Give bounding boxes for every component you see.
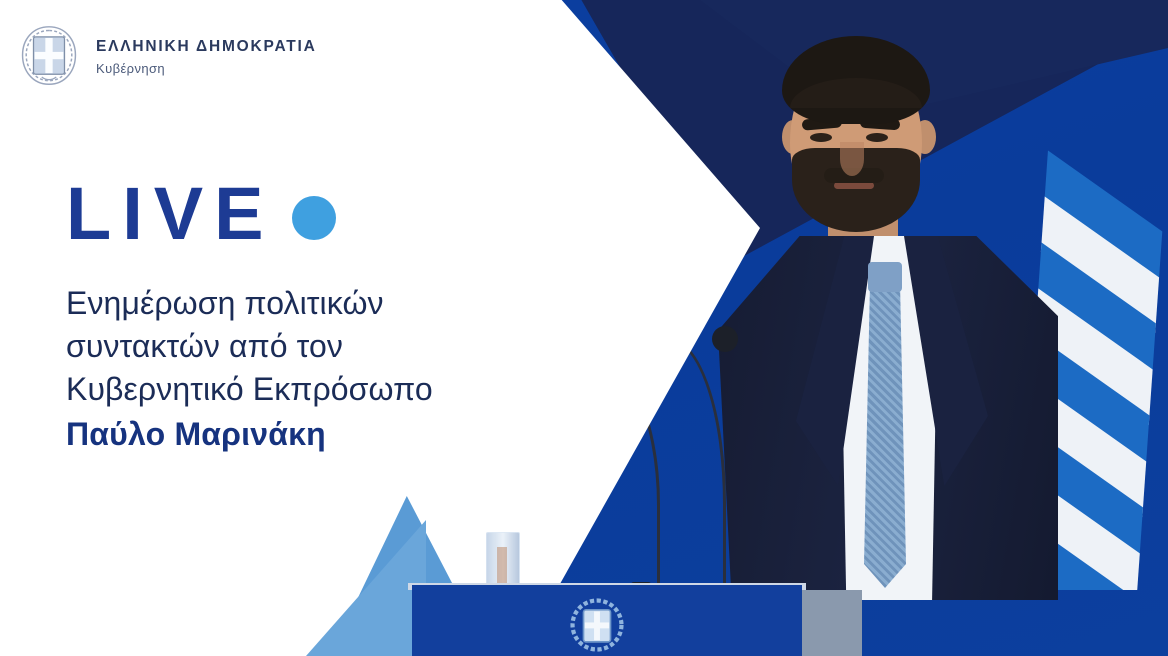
- headline-line-1: Ενημέρωση πολιτικών: [66, 285, 384, 321]
- speaker-eye-left: [810, 133, 832, 142]
- speaker-nose: [840, 142, 864, 176]
- live-dot-icon: [292, 196, 336, 240]
- government-titles: ΕΛΛΗΝΙΚΗ ΔΗΜΟΚΡΑΤΙΑ Κυβέρνηση: [96, 36, 317, 75]
- necktie-knot: [868, 262, 902, 292]
- live-badge: LIVE: [66, 178, 336, 249]
- republic-name: ΕΛΛΗΝΙΚΗ ΔΗΜΟΚΡΑΤΙΑ: [96, 38, 317, 55]
- speaker-eye-right: [866, 133, 888, 142]
- headline-line-2: συντακτών από τον: [66, 328, 343, 364]
- headline-line-3: Κυβερνητικό Εκπρόσωπο: [66, 371, 433, 407]
- podium-side-panel: [802, 590, 862, 656]
- speaker-name: Παύλο Μαρινάκη: [66, 413, 536, 456]
- necktie: [864, 288, 906, 588]
- government-branding: ΕΛΛΗΝΙΚΗ ΔΗΜΟΚΡΑΤΙΑ Κυβέρνηση: [18, 24, 317, 88]
- greek-coat-of-arms-icon: [18, 24, 80, 88]
- speaker-torso: [718, 236, 1078, 600]
- government-subtitle: Κυβέρνηση: [96, 61, 317, 76]
- water-glass: [486, 532, 520, 588]
- video-thumbnail: ΕΛΛΗΝΙΚΗ ΔΗΜΟΚΡΑΤΙΑ Κυβέρνηση LIVE Ενημέ…: [0, 0, 1168, 656]
- podium-emblem-icon: [570, 598, 624, 652]
- speaker-mouth: [834, 182, 874, 189]
- speaker-hair: [782, 36, 930, 124]
- page-title: Ενημέρωση πολιτικών συντακτών από τον Κυ…: [66, 282, 536, 456]
- speaker-figure: [700, 0, 1100, 600]
- live-label: LIVE: [66, 178, 274, 249]
